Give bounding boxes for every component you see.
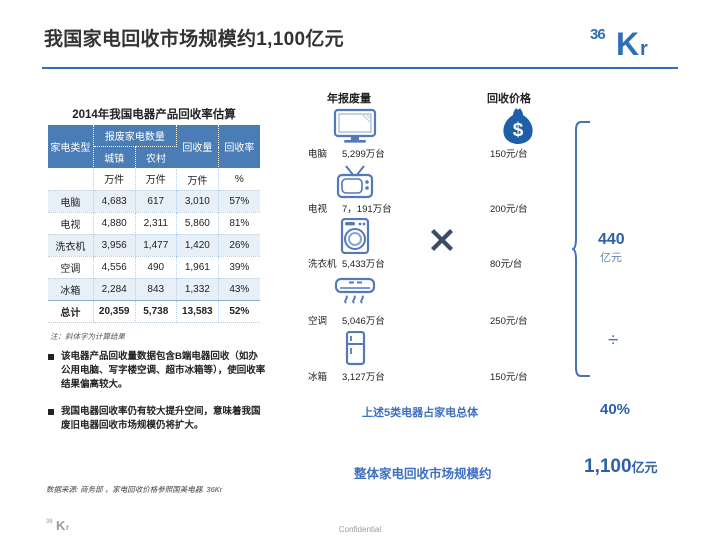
row-recycled: 1,420 [177, 234, 219, 256]
row-category: 电视 [48, 212, 93, 234]
table-unit-row: 万件 万件 万件 % [48, 168, 260, 190]
row-rate: 81% [218, 212, 260, 234]
col-header-recycled: 回收量 [177, 125, 219, 168]
col-header-rural: 农村 [135, 147, 176, 169]
list-item: 该电器产品回收量数据包含B端电器回收（如办公用电脑、写字楼空调、超市冰箱等），使… [48, 350, 266, 392]
product-row-tv: 电视 7，191万台 200元/台 [300, 163, 560, 219]
row-urban: 4,880 [93, 212, 135, 234]
conclusion-value: 1,100亿元 [584, 456, 658, 478]
row-recycled: 1,332 [177, 278, 219, 300]
list-item: 我国电器回收率仍有较大提升空间，意味着我国废旧电器回收市场规模仍将扩大。 [48, 405, 266, 433]
product-label: 洗衣机 [308, 256, 337, 270]
unit-category [48, 168, 93, 190]
source-note: 数据来源: 商务部 ，家电回收价格参照国美电器. 36Kr [46, 484, 222, 495]
product-label: 电视 [308, 201, 327, 215]
row-rural: 490 [135, 256, 176, 278]
col-header-scrap-group: 报废家电数量 [93, 125, 176, 147]
row-category: 冰箱 [48, 278, 93, 300]
conclusion-number: 1,100 [584, 456, 632, 477]
table-header-row-1: 家电类型 报废家电数量 回收量 回收率 [48, 125, 260, 147]
square-bullet-icon [48, 354, 54, 360]
total-category: 总计 [48, 300, 93, 322]
row-category: 空调 [48, 256, 93, 278]
row-rate: 57% [218, 190, 260, 212]
product-label: 电脑 [308, 146, 327, 160]
product-price: 150元/台 [490, 146, 528, 160]
row-rural: 617 [135, 190, 176, 212]
table-footnote: 注：斜体字为计算结果 [50, 331, 125, 342]
row-urban: 4,556 [93, 256, 135, 278]
refrigerator-icon [332, 331, 378, 367]
bullet-text: 我国电器回收率仍有较大提升空间，意味着我国废旧电器回收市场规模仍将扩大。 [61, 405, 266, 433]
product-quantity: 3,127万台 [342, 369, 385, 383]
square-bullet-icon [48, 409, 54, 415]
table-head: 家电类型 报废家电数量 回收量 回收率 城镇 农村 [48, 125, 260, 168]
row-category: 洗衣机 [48, 234, 93, 256]
product-label: 空调 [308, 313, 327, 327]
product-quantity: 5,299万台 [342, 146, 385, 160]
divide-icon: ÷ [608, 330, 618, 352]
product-price: 80元/台 [490, 256, 522, 270]
confidential-label: Confidential [0, 525, 720, 534]
conclusion-label: 整体家电回收市场规模约 [354, 463, 492, 482]
monitor-icon [332, 108, 378, 144]
recycling-rate-table: 家电类型 报废家电数量 回收量 回收率 城镇 农村 万件 万件 万件 % 电脑 … [48, 125, 260, 323]
washing-machine-icon [332, 218, 378, 254]
row-rural: 1,477 [135, 234, 176, 256]
row-urban: 4,683 [93, 190, 135, 212]
total-rural: 5,738 [135, 300, 176, 322]
product-quantity: 7，191万台 [342, 201, 392, 215]
table-row: 洗衣机 3,956 1,477 1,420 26% [48, 234, 260, 256]
row-rate: 43% [218, 278, 260, 300]
table-body: 万件 万件 万件 % 电脑 4,683 617 3,010 57% 电视 4,8… [48, 168, 260, 322]
svg-text:K: K [616, 26, 639, 62]
col-header-category: 家电类型 [48, 125, 93, 168]
product-label: 冰箱 [308, 369, 327, 383]
product-row-refrigerator: 冰箱 3,127万台 150元/台 [300, 331, 560, 387]
row-rate: 39% [218, 256, 260, 278]
table-row: 电脑 4,683 617 3,010 57% [48, 190, 260, 212]
row-urban: 2,284 [93, 278, 135, 300]
multiply-icon [428, 226, 456, 254]
air-conditioner-icon [332, 275, 378, 311]
product-quantity: 5,433万台 [342, 256, 385, 270]
tv-icon [332, 163, 378, 199]
table-row: 冰箱 2,284 843 1,332 43% [48, 278, 260, 300]
col-header-rate: 回收率 [218, 125, 260, 168]
unit-urban: 万件 [93, 168, 135, 190]
conclusion-label: 上述5类电器占家电总体 [362, 404, 478, 420]
table-total-row: 总计 20,359 5,738 13,583 52% [48, 300, 260, 322]
product-price: 150元/台 [490, 369, 528, 383]
column-heading-quantity: 年报废量 [327, 90, 371, 106]
36kr-logo: 36 K r [590, 22, 680, 62]
product-price: 250元/台 [490, 313, 528, 327]
svg-text:r: r [640, 38, 648, 60]
conclusion-unit: 亿元 [632, 460, 658, 475]
subtotal-unit: 亿元 [600, 249, 622, 265]
product-price: 200元/台 [490, 201, 528, 215]
row-urban: 3,956 [93, 234, 135, 256]
grouping-brace [572, 120, 594, 378]
total-urban: 20,359 [93, 300, 135, 322]
slide-canvas: 我国家电回收市场规模约1,100亿元 36 K r 2014年我国电器产品回收率… [0, 0, 720, 540]
row-recycled: 5,860 [177, 212, 219, 234]
product-row-computer: 电脑 5,299万台 150元/台 [300, 108, 560, 164]
unit-rural: 万件 [135, 168, 176, 190]
table-title: 2014年我国电器产品回收率估算 [48, 106, 260, 122]
bullet-list: 该电器产品回收量数据包含B端电器回收（如办公用电脑、写字楼空调、超市冰箱等），使… [48, 350, 266, 446]
total-recycled: 13,583 [177, 300, 219, 322]
total-rate: 52% [218, 300, 260, 322]
row-rural: 843 [135, 278, 176, 300]
conclusion-value: 40% [600, 401, 630, 418]
subtotal-value: 440 [598, 231, 625, 249]
bullet-text: 该电器产品回收量数据包含B端电器回收（如办公用电脑、写字楼空调、超市冰箱等），使… [61, 350, 266, 392]
product-row-air-conditioner: 空调 5,046万台 250元/台 [300, 275, 560, 331]
svg-text:36: 36 [590, 26, 605, 43]
row-rate: 26% [218, 234, 260, 256]
row-rural: 2,311 [135, 212, 176, 234]
row-recycled: 1,961 [177, 256, 219, 278]
page-title: 我国家电回收市场规模约1,100亿元 [44, 24, 344, 51]
unit-recycled: 万件 [177, 168, 219, 190]
row-recycled: 3,010 [177, 190, 219, 212]
unit-rate: % [218, 168, 260, 190]
row-category: 电脑 [48, 190, 93, 212]
col-header-urban: 城镇 [93, 147, 135, 169]
title-divider [42, 67, 678, 69]
column-heading-price: 回收价格 [487, 90, 531, 106]
product-quantity: 5,046万台 [342, 313, 385, 327]
table-row: 空调 4,556 490 1,961 39% [48, 256, 260, 278]
table-row: 电视 4,880 2,311 5,860 81% [48, 212, 260, 234]
